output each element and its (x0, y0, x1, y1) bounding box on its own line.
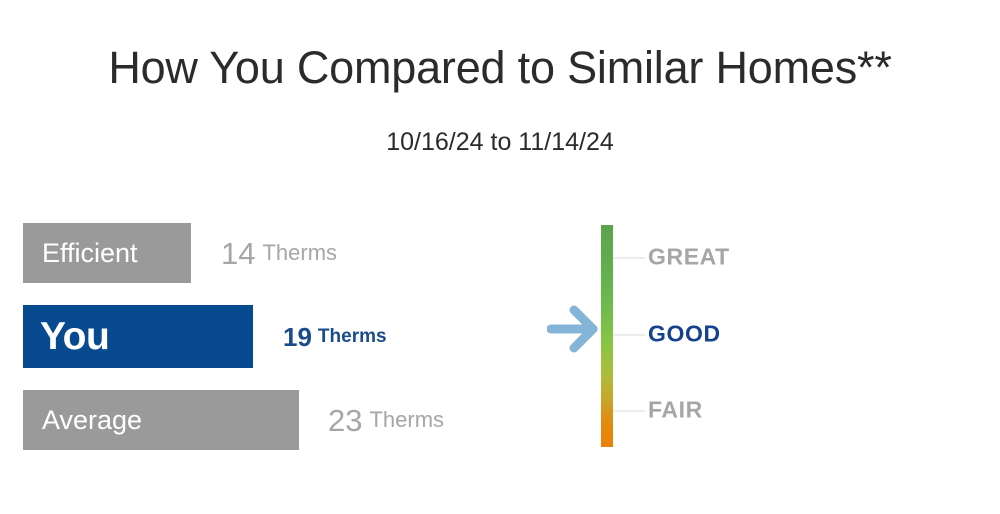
gauge-label-great: GREAT (648, 244, 730, 271)
bar-efficient: Efficient (23, 223, 191, 283)
page-title: How You Compared to Similar Homes** (0, 42, 1000, 94)
gauge-gradient-track (601, 225, 613, 447)
value-number: 19 (283, 324, 312, 350)
value-unit: Therms (369, 409, 444, 431)
bar-value-average: 23 Therms (328, 390, 444, 450)
bar-label-efficient: Efficient (42, 240, 138, 267)
gauge-label-fair: FAIR (648, 397, 703, 424)
value-number: 14 (221, 238, 255, 269)
value-unit: Therms (262, 242, 337, 264)
bar-row: Efficient 14 Therms (23, 223, 543, 283)
bar-label-average: Average (42, 407, 142, 434)
energy-comparison-slide: How You Compared to Similar Homes** 10/1… (0, 0, 1000, 514)
bar-average: Average (23, 390, 299, 450)
gauge-label-good: GOOD (648, 321, 721, 348)
gauge-tick-fair (613, 410, 645, 412)
bar-value-you: 19 Therms (283, 305, 387, 368)
bar-row: You 19 Therms (23, 305, 543, 368)
value-number: 23 (328, 405, 362, 436)
performance-gauge: GREAT GOOD FAIR (601, 225, 613, 447)
gauge-tick-good (613, 334, 645, 336)
bar-label-you: You (40, 317, 109, 356)
bar-value-efficient: 14 Therms (221, 223, 337, 283)
bar-row: Average 23 Therms (23, 390, 543, 450)
gauge-tick-great (613, 257, 645, 259)
value-unit: Therms (318, 327, 387, 346)
bar-you: You (23, 305, 253, 368)
date-range-subtitle: 10/16/24 to 11/14/24 (0, 128, 1000, 157)
comparison-bar-chart: Efficient 14 Therms You 19 Therms Averag… (23, 223, 543, 472)
arrow-right-icon (547, 300, 603, 358)
